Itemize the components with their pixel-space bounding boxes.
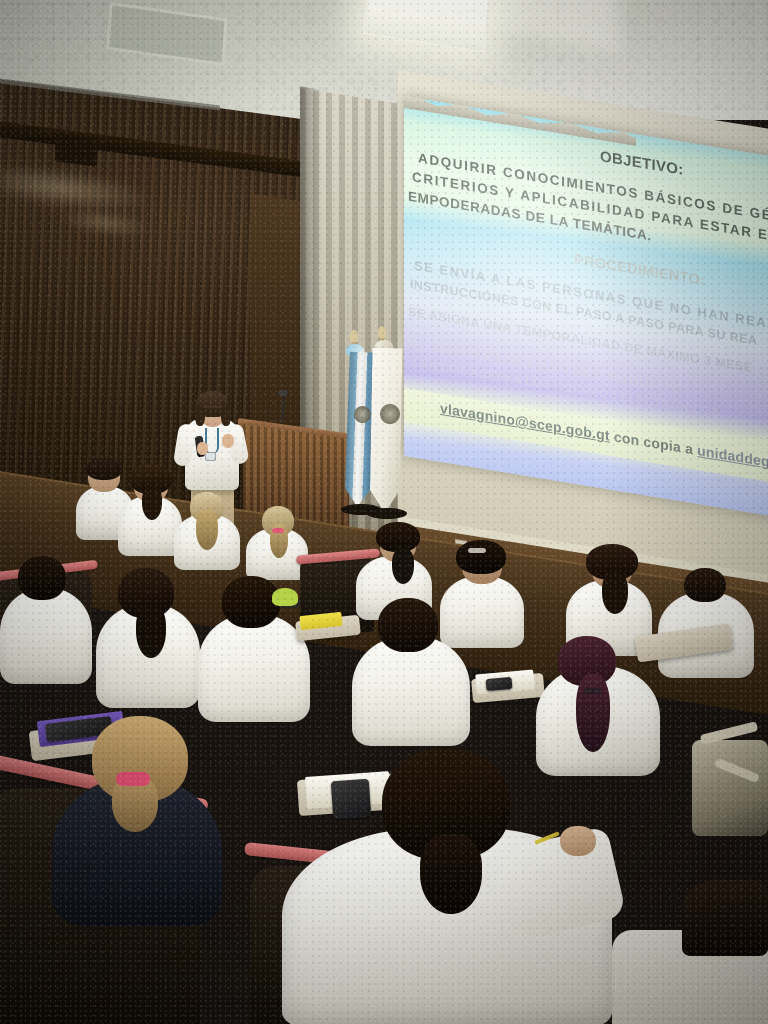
wall-speaker-icon [55, 133, 97, 166]
institutional-crest-icon [380, 404, 400, 424]
hair-tie-icon [116, 772, 150, 786]
attendee-ponytail [392, 548, 414, 584]
attendee-ponytail-blonde [196, 510, 218, 550]
attendee-coat [0, 588, 92, 684]
smartphone [331, 779, 372, 820]
headband-icon [468, 548, 486, 553]
presenter-badge [205, 452, 216, 461]
flag-finial-icon [378, 326, 386, 338]
presenter-left-hand [197, 442, 208, 455]
attendee-coat [352, 636, 470, 746]
handbag [692, 740, 768, 836]
flag-stand-base [367, 508, 407, 519]
attendee-ponytail [602, 572, 628, 614]
attendee-coat [440, 576, 524, 648]
attendee-hair [86, 458, 122, 480]
attendee-ponytail [420, 834, 482, 914]
presenter-right-hand [222, 434, 234, 448]
guatemala-coat-of-arms-icon [354, 406, 371, 423]
hair-clip-icon [584, 688, 602, 694]
attendee-hair-right-edge [682, 880, 768, 956]
attendee-writing-hand [560, 826, 596, 856]
attendee-hair [456, 540, 506, 574]
institutional-flag [370, 348, 403, 513]
attendee-hair [378, 598, 438, 652]
projection-screen: OBJETIVO: ADQUIRIR CONOCIMIENTOS BÁSICOS… [404, 96, 768, 518]
attendee-ponytail [142, 486, 162, 520]
attendee-ponytail-burgundy [576, 674, 610, 752]
smartphone [486, 677, 513, 691]
attendee-hair [18, 556, 66, 600]
auditorium-photo: OBJETIVO: ADQUIRIR CONOCIMIENTOS BÁSICOS… [0, 0, 768, 1024]
glasses-icon [203, 406, 222, 411]
attendee-ponytail [136, 604, 166, 658]
presenter-hair-right [221, 404, 231, 426]
attendee-hair [684, 568, 726, 602]
gooseneck-microphone-head-icon [278, 390, 288, 396]
hair-tie-icon [272, 528, 284, 533]
hair-clip-icon [272, 588, 298, 606]
attendee-coat [198, 614, 310, 722]
flag-finial-icon [350, 330, 358, 342]
